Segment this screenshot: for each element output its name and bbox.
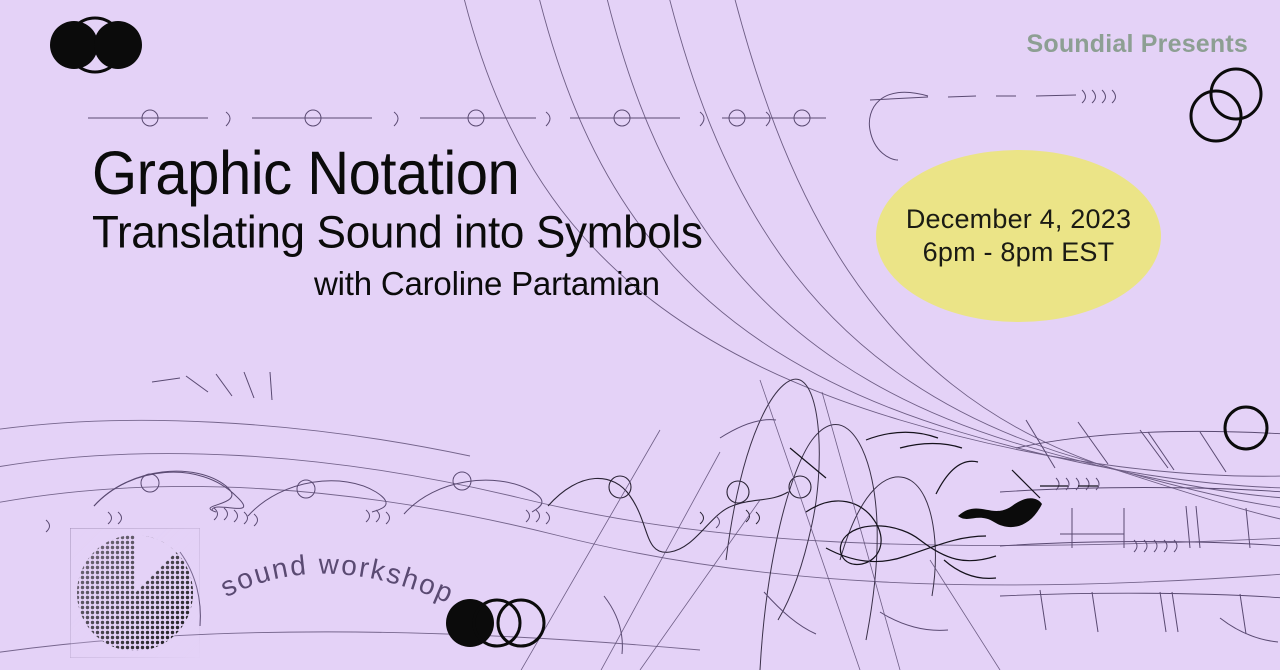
score-arcs-right (1000, 420, 1280, 634)
event-time: 6pm - 8pm EST (923, 237, 1115, 268)
top-right-circle-mark (1191, 69, 1261, 141)
scattered-comma-marks (46, 512, 720, 532)
halftone-pie-mark (70, 528, 200, 658)
presents-label: Soundial Presents (1026, 30, 1248, 59)
logo-mark-circles (50, 18, 142, 72)
flourish-commas-right (1056, 478, 1177, 552)
bottom-center-circle-mark (446, 599, 544, 647)
parabolic-peaks (726, 379, 935, 670)
poster-canvas: sound workshop Soundial Presents Graphic… (0, 0, 1280, 670)
presenter-line: with Caroline Partamian (314, 267, 703, 302)
page-subtitle: Translating Sound into Symbols (92, 209, 703, 257)
decorative-artwork-layer: sound workshop (0, 0, 1280, 670)
black-squiggle-cluster (790, 432, 1098, 578)
black-s-curve-mark (958, 498, 1042, 527)
center-meander-wave (548, 476, 811, 552)
date-badge: December 4, 2023 6pm - 8pm EST (876, 150, 1161, 322)
page-title: Graphic Notation (92, 143, 703, 204)
hook-dash-phrase (869, 90, 1115, 160)
right-bold-circle-mark (1225, 407, 1267, 449)
notation-row-glyphs (88, 110, 826, 126)
title-block: Graphic Notation Translating Sound into … (92, 143, 703, 302)
event-date: December 4, 2023 (906, 204, 1131, 235)
scattered-curve-strokes (180, 420, 1278, 654)
curved-caption-textpath: sound workshop (215, 548, 459, 609)
diagonal-rays (520, 380, 1000, 670)
curved-caption-text: sound workshop (215, 548, 459, 609)
rotating-tick-marks (152, 372, 272, 400)
lower-left-sweep-arcs (0, 420, 1280, 655)
arc-node-phrase-left (94, 471, 550, 526)
